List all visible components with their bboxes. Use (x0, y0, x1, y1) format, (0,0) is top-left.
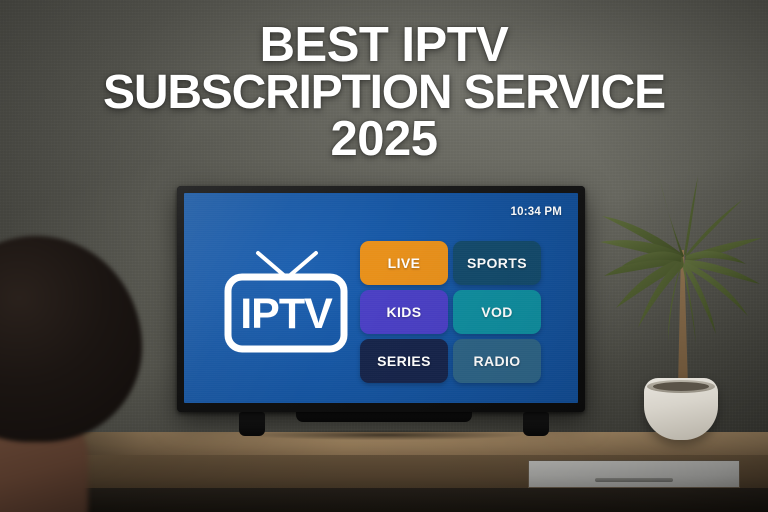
viewer-head (0, 236, 142, 442)
iptv-promo-scene: 10:34 PM IPTV LIVE SPORTS KIDS (0, 0, 768, 512)
tile-live[interactable]: LIVE (360, 241, 448, 285)
tile-vod-label: VOD (481, 304, 513, 320)
tile-kids[interactable]: KIDS (360, 290, 448, 334)
channel-tiles-grid: LIVE SPORTS KIDS VOD SERIES RADIO (360, 241, 541, 383)
clock-label: 10:34 PM (511, 206, 562, 218)
console-drawer (528, 460, 740, 488)
tv-foot-left (239, 412, 265, 436)
headline-line-2: SUBSCRIPTION SERVICE (0, 69, 768, 116)
tv-screen: 10:34 PM IPTV LIVE SPORTS KIDS (184, 193, 578, 403)
tile-live-label: LIVE (388, 255, 421, 271)
tile-vod[interactable]: VOD (453, 290, 541, 334)
tile-series[interactable]: SERIES (360, 339, 448, 383)
tv-foot-right (523, 412, 549, 436)
tile-sports[interactable]: SPORTS (453, 241, 541, 285)
iptv-logo-text: IPTV (240, 290, 333, 338)
drawer-handle-icon (595, 478, 673, 482)
headline-line-3: 2025 (0, 116, 768, 163)
tile-radio-label: RADIO (473, 353, 520, 369)
pot-rim-inner (653, 382, 709, 391)
tile-sports-label: SPORTS (467, 255, 527, 271)
page-title: BEST IPTV SUBSCRIPTION SERVICE 2025 (0, 22, 768, 163)
tile-kids-label: KIDS (386, 304, 421, 320)
tv-bezel: 10:34 PM IPTV LIVE SPORTS KIDS (177, 186, 585, 412)
tile-radio[interactable]: RADIO (453, 339, 541, 383)
viewer-silhouette (0, 236, 220, 512)
plant-pot (644, 378, 718, 440)
headline-line-1: BEST IPTV (0, 22, 768, 69)
iptv-logo: IPTV (212, 247, 360, 357)
television: 10:34 PM IPTV LIVE SPORTS KIDS (177, 186, 585, 412)
tile-series-label: SERIES (377, 353, 431, 369)
